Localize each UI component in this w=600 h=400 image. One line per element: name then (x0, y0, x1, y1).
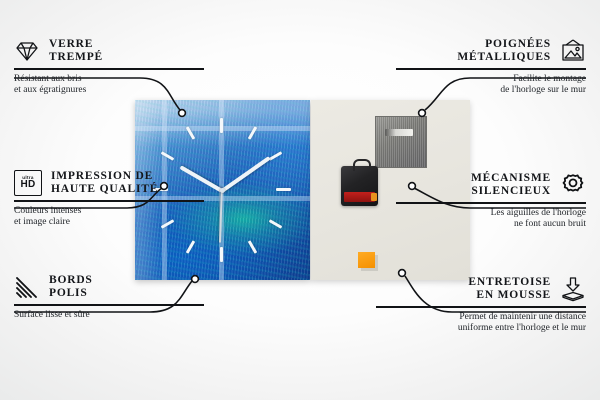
divider (376, 306, 586, 308)
feature-sub-line1: Facilite le montage (396, 74, 586, 86)
feature-sub-line2: et image claire (14, 217, 204, 229)
feature-sub-line2: uniforme entre l'horloge et le mur (376, 323, 586, 335)
divider (396, 202, 586, 204)
feature-title-line1: BORDS (49, 274, 93, 287)
feature-bords-polis[interactable]: BORDS POLIS Surface lisse et sûre (14, 274, 204, 321)
gear-icon (560, 172, 586, 198)
feature-poignees[interactable]: POIGNÉES MÉTALLIQUES Facilite le montage… (396, 38, 586, 97)
hotspot-poignees (419, 110, 426, 117)
picture-hanger-icon (560, 38, 586, 64)
feature-title-line1: IMPRESSION DE (51, 170, 158, 183)
feature-sub-line2: et aux égratignures (14, 85, 204, 97)
feature-impression[interactable]: ultra HD IMPRESSION DE HAUTE QUALITÉ Cou… (14, 170, 204, 229)
feature-title-line1: POIGNÉES (457, 38, 551, 51)
feature-title-line2: EN MOUSSE (468, 289, 551, 302)
feature-title-line2: HAUTE QUALITÉ (51, 183, 158, 196)
feature-entretoise[interactable]: ENTRETOISE EN MOUSSE Permet de maintenir… (376, 276, 586, 335)
feature-title-line1: ENTRETOISE (468, 276, 551, 289)
feature-sub-line1: Résistant aux bris (14, 74, 204, 86)
feature-title-line2: SILENCIEUX (471, 185, 551, 198)
feature-sub-line1: Les aiguilles de l'horloge (396, 208, 586, 220)
infographic-canvas: VERRE TREMPÉ Résistant aux bris et aux é… (0, 0, 600, 400)
divider (14, 200, 204, 202)
feature-sub-line2: de l'horloge sur le mur (396, 85, 586, 97)
feature-sub-line1: Surface lisse et sûre (14, 310, 204, 322)
feature-mecanisme[interactable]: MÉCANISME SILENCIEUX Les aiguilles de l'… (396, 172, 586, 231)
feature-title-line2: POLIS (49, 287, 93, 300)
diamond-icon (14, 38, 40, 64)
hotspot-verre-trempe (179, 110, 186, 117)
feature-sub-line1: Permet de maintenir une distance (376, 312, 586, 324)
feature-title-line1: VERRE (49, 38, 103, 51)
feature-sub-line2: ne font aucun bruit (396, 219, 586, 231)
divider (14, 68, 204, 70)
feature-verre-trempe[interactable]: VERRE TREMPÉ Résistant aux bris et aux é… (14, 38, 204, 97)
divider (14, 304, 204, 306)
feature-title-line1: MÉCANISME (471, 172, 551, 185)
feature-title-line2: MÉTALLIQUES (457, 51, 551, 64)
feature-title-line2: TREMPÉ (49, 51, 103, 64)
foam-spacer-icon (560, 276, 586, 302)
ultra-hd-main-text: HD (20, 180, 35, 190)
feature-sub-line1: Couleurs intenses (14, 206, 204, 218)
ultra-hd-icon: ultra HD (14, 170, 42, 196)
polished-edges-icon (14, 274, 40, 300)
divider (396, 68, 586, 70)
